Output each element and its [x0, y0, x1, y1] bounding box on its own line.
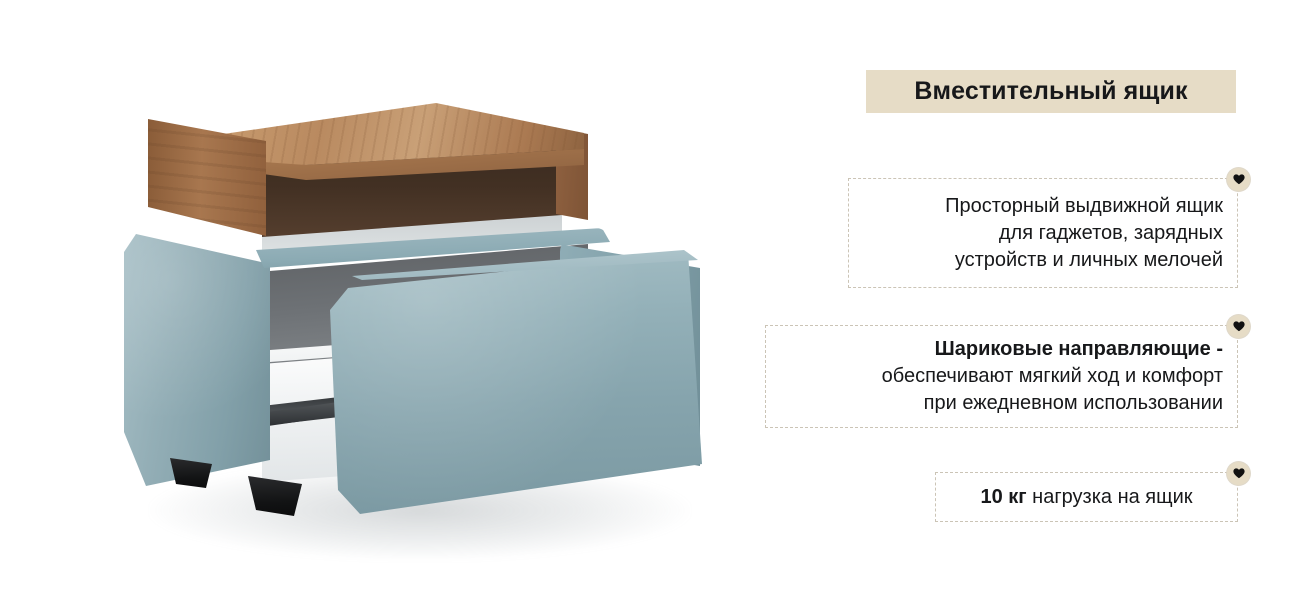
heart-icon: [1227, 315, 1250, 338]
feature-card-roomy-drawer-text: Просторный выдвижной ящик для гаджетов, …: [863, 193, 1223, 274]
product-image: [0, 0, 760, 608]
feature-card-ball-bearing-slides-text: Шариковые направляющие - обеспечивают мя…: [780, 336, 1223, 417]
wood-shelf-left-panel: [148, 118, 266, 258]
feature-3-rest: нагрузка на ящик: [1027, 486, 1193, 508]
feature-3-bold: 10 кг: [980, 486, 1026, 508]
feature-card-load-capacity: 10 кг нагрузка на ящик: [935, 472, 1238, 522]
page-title-text: Вместительный ящик: [914, 77, 1187, 106]
cabinet-left-side: [124, 222, 270, 490]
page-title: Вместительный ящик: [866, 70, 1236, 113]
feature-card-ball-bearing-slides: Шариковые направляющие - обеспечивают мя…: [765, 325, 1238, 428]
feature-2-bold: Шариковые направляющие -: [935, 338, 1223, 360]
features-panel: Вместительный ящик Просторный выдвижной …: [740, 0, 1310, 608]
promo-page: Вместительный ящик Просторный выдвижной …: [0, 0, 1310, 608]
heart-icon: [1227, 168, 1250, 191]
feature-2-rest: обеспечивают мягкий ход и комфорт при еж…: [882, 365, 1223, 414]
feature-card-roomy-drawer: Просторный выдвижной ящик для гаджетов, …: [848, 178, 1238, 288]
feature-card-load-capacity-text: 10 кг нагрузка на ящик: [950, 484, 1223, 511]
heart-icon: [1227, 462, 1250, 485]
